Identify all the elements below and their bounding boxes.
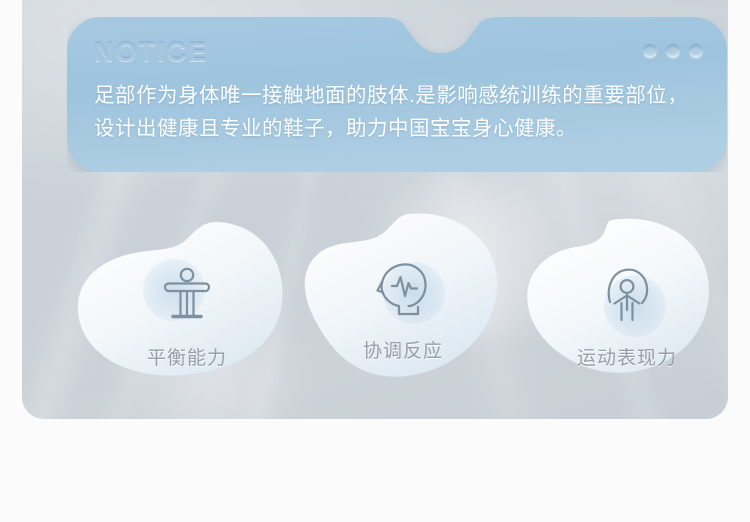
page-root: NOTICE 足部作为身体唯一接触地面的肢体.是影响感统训练的重要部位，设计出健…: [0, 0, 750, 522]
balance-figure-icon: [156, 266, 218, 326]
feature-item-balance[interactable]: 平衡能力: [68, 212, 298, 392]
feature-inner: 协调反应: [288, 212, 518, 392]
feature-label-balance: 平衡能力: [147, 343, 227, 370]
jump-rope-figure-icon: [596, 266, 658, 326]
icon-halo: [144, 253, 230, 339]
dot-icon-2: [666, 44, 680, 58]
feature-inner: 平衡能力: [72, 218, 302, 398]
notice-content: NOTICE 足部作为身体唯一接触地面的肢体.是影响感统训练的重要部位，设计出健…: [67, 17, 727, 172]
content-panel: NOTICE 足部作为身体唯一接触地面的肢体.是影响感统训练的重要部位，设计出健…: [22, 0, 728, 419]
notice-card: NOTICE 足部作为身体唯一接触地面的肢体.是影响感统训练的重要部位，设计出健…: [67, 17, 727, 172]
feature-item-coordination[interactable]: 协调反应: [288, 208, 518, 388]
icon-halo: [584, 253, 670, 339]
feature-item-performance[interactable]: 运动表现力: [508, 212, 728, 392]
notice-body-text: 足部作为身体唯一接触地面的肢体.是影响感统训练的重要部位，设计出健康且专业的鞋子…: [94, 79, 701, 145]
dot-icon-3: [689, 44, 703, 58]
feature-list: 平衡能力: [22, 200, 728, 400]
dot-icon-1: [643, 44, 657, 58]
feature-inner: 运动表现力: [512, 218, 728, 398]
feature-label-performance: 运动表现力: [577, 343, 677, 370]
feature-label-coordination: 协调反应: [363, 336, 443, 363]
head-pulse-icon: [372, 261, 434, 321]
notice-title: NOTICE: [94, 39, 701, 66]
notice-dots-group: [643, 44, 703, 58]
icon-halo: [360, 248, 446, 334]
